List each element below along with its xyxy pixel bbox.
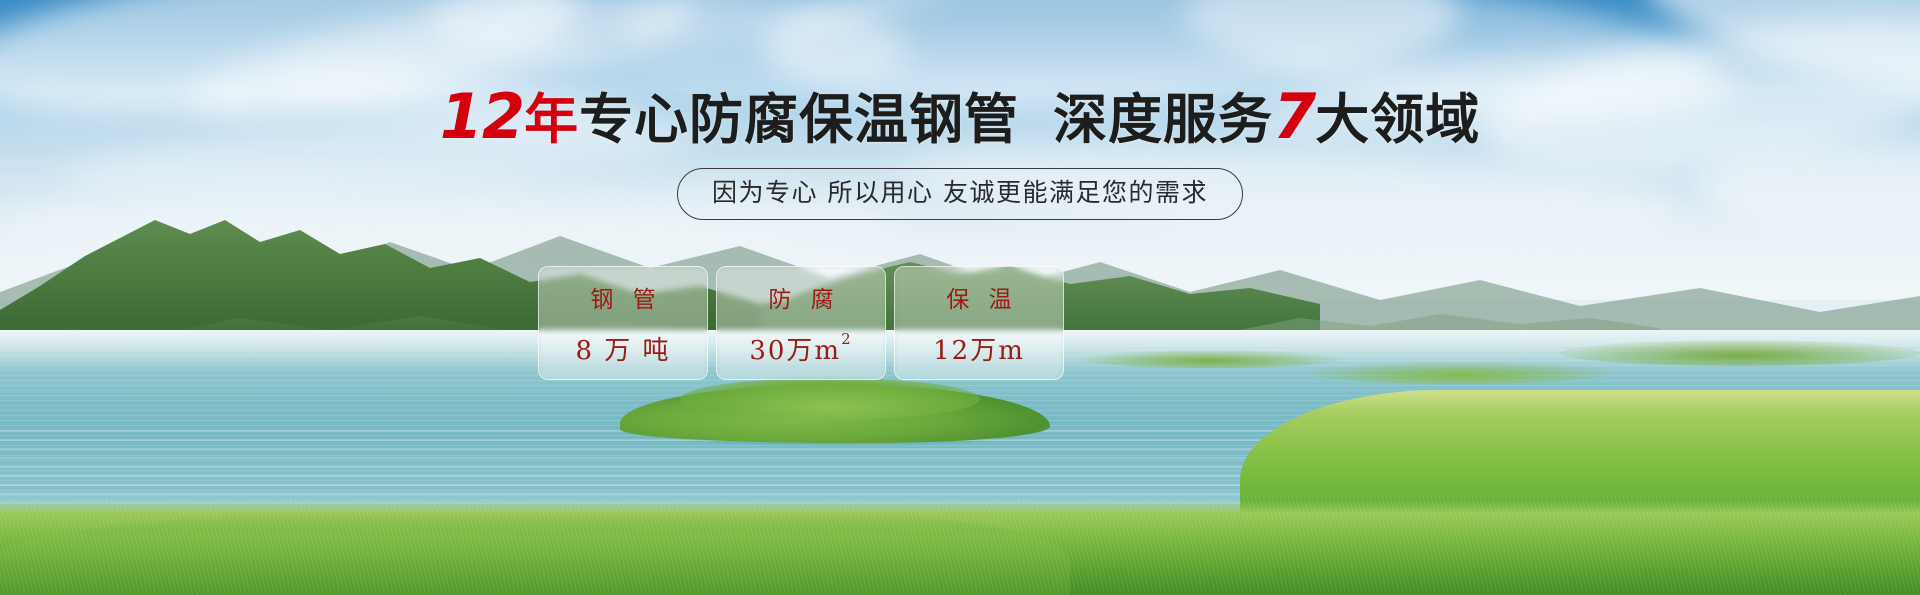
stat-card-group: 钢 管 8 万 吨 防 腐 30万m2 保 温 12万m [538,266,1064,380]
banner-subtitle-pill: 因为专心 所以用心 友诚更能满足您的需求 [677,168,1243,220]
headline-years-unit: 年 [524,88,579,151]
headline-fields-number: 7 [1273,80,1315,153]
banner-content: 12年专心防腐保温钢管深度服务7大领域 因为专心 所以用心 友诚更能满足您的需求… [0,0,1920,595]
headline-years-number: 12 [440,80,524,153]
stat-card-value-text: 12万m [933,330,1025,367]
banner-headline: 12年专心防腐保温钢管深度服务7大领域 [0,86,1920,151]
stat-card-steel-pipe[interactable]: 钢 管 8 万 吨 [538,266,708,380]
stat-card-insulation[interactable]: 保 温 12万m [894,266,1064,380]
stat-card-title: 钢 管 [584,280,661,314]
headline-part-2: 深度服务 [1053,88,1273,151]
stat-card-value-text: 30万m [749,330,841,367]
headline-part-3: 大领域 [1315,88,1480,151]
stat-card-anticorrosion[interactable]: 防 腐 30万m2 [716,266,886,380]
stat-card-title: 防 腐 [762,280,839,314]
stat-card-value-sup: 2 [841,332,853,347]
hero-banner: 12年专心防腐保温钢管深度服务7大领域 因为专心 所以用心 友诚更能满足您的需求… [0,0,1920,595]
stat-card-value-text: 8 万 吨 [575,330,670,367]
stat-card-title: 保 温 [940,280,1017,314]
banner-subtitle-wrapper: 因为专心 所以用心 友诚更能满足您的需求 [0,168,1920,220]
stat-card-value: 8 万 吨 [575,330,670,367]
stat-card-value: 12万m [933,330,1025,367]
headline-part-1: 专心防腐保温钢管 [579,88,1019,151]
stat-card-value: 30万m2 [749,330,852,367]
